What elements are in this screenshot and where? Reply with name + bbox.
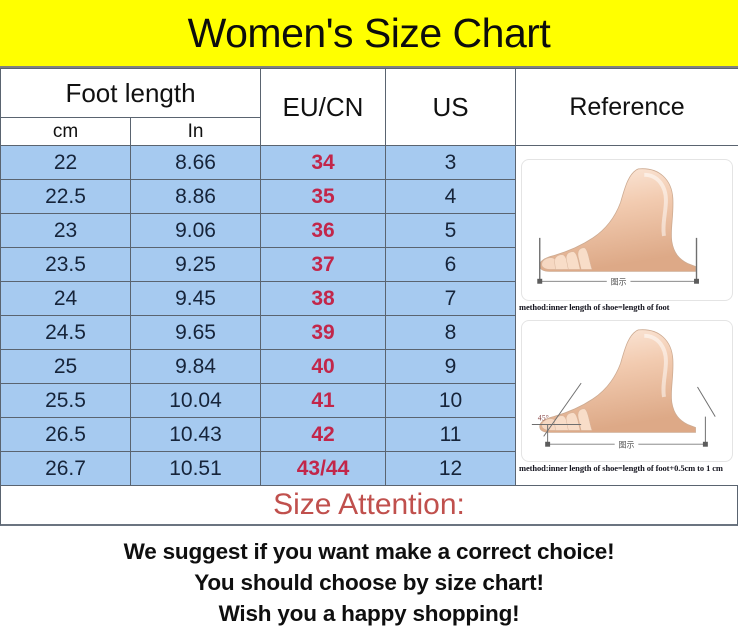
cell-us: 9: [386, 350, 516, 384]
dimension-label: 图示: [619, 440, 635, 449]
cell-eu: 37: [261, 248, 386, 282]
cell-us: 5: [386, 214, 516, 248]
cell-in: 8.86: [131, 180, 261, 214]
chart-title-bar: Women's Size Chart: [0, 0, 738, 68]
cell-us: 3: [386, 146, 516, 180]
cell-cm: 24.5: [1, 316, 131, 350]
cell-us: 6: [386, 248, 516, 282]
cell-in: 9.45: [131, 282, 261, 316]
cell-eu: 35: [261, 180, 386, 214]
reference-cell: 图示 method:inner length of shoe=length of…: [516, 146, 738, 486]
cell-eu: 41: [261, 384, 386, 418]
page-title: Women's Size Chart: [188, 13, 551, 54]
cell-us: 7: [386, 282, 516, 316]
table-header: Foot length EU/CN US Reference cm In: [1, 69, 738, 146]
size-attention-row: Size Attention:: [0, 486, 738, 526]
cell-cm: 23.5: [1, 248, 131, 282]
cell-eu: 42: [261, 418, 386, 452]
angle-label: 45°: [538, 413, 549, 422]
reference-figure-2: 45° 图示 method:inner length of shoe=lengt…: [516, 316, 738, 476]
footer-notes: We suggest if you want make a correct ch…: [0, 526, 738, 629]
cell-in: 10.43: [131, 418, 261, 452]
cell-in: 10.04: [131, 384, 261, 418]
cell-in: 9.84: [131, 350, 261, 384]
cell-cm: 24: [1, 282, 131, 316]
dimension-label: 图示: [611, 278, 627, 287]
column-header-cm: cm: [1, 118, 131, 146]
header-row-primary: Foot length EU/CN US Reference: [1, 69, 738, 118]
size-attention-heading: Size Attention:: [273, 490, 465, 520]
cell-cm: 25: [1, 350, 131, 384]
size-chart-sheet: Women's Size Chart Foot length EU/CN US …: [0, 0, 738, 644]
cell-us: 4: [386, 180, 516, 214]
foot-angle-view-illustration: 45° 图示: [521, 320, 733, 462]
cell-eu: 34: [261, 146, 386, 180]
cell-us: 8: [386, 316, 516, 350]
cell-eu: 38: [261, 282, 386, 316]
table-row: 22 8.66 34 3: [1, 146, 738, 180]
size-chart-table: Foot length EU/CN US Reference cm In 22 …: [0, 68, 738, 486]
cell-eu: 36: [261, 214, 386, 248]
cell-us: 11: [386, 418, 516, 452]
note-line: We suggest if you want make a correct ch…: [0, 536, 738, 567]
column-header-reference: Reference: [516, 69, 738, 146]
cell-us: 12: [386, 452, 516, 486]
note-line: You should choose by size chart!: [0, 567, 738, 598]
cell-cm: 26.7: [1, 452, 131, 486]
cell-eu: 39: [261, 316, 386, 350]
reference-figure-stack: 图示 method:inner length of shoe=length of…: [516, 155, 738, 475]
column-header-us: US: [386, 69, 516, 146]
foot-diagram-plain-icon: 图示: [522, 160, 732, 300]
cell-in: 9.06: [131, 214, 261, 248]
cell-eu: 43/44: [261, 452, 386, 486]
cell-cm: 25.5: [1, 384, 131, 418]
reference-caption-1: method:inner length of shoe=length of fo…: [516, 301, 738, 315]
cell-cm: 23: [1, 214, 131, 248]
cell-cm: 22.5: [1, 180, 131, 214]
column-header-in: In: [131, 118, 261, 146]
cell-in: 9.25: [131, 248, 261, 282]
cell-cm: 26.5: [1, 418, 131, 452]
foot-side-view-illustration: 图示: [521, 159, 733, 301]
reference-caption-2: method:inner length of shoe=length of fo…: [516, 462, 738, 476]
column-header-eu-cn: EU/CN: [261, 69, 386, 146]
reference-figure-1: 图示 method:inner length of shoe=length of…: [516, 155, 738, 315]
table-body: 22 8.66 34 3: [1, 146, 738, 486]
column-header-foot-length: Foot length: [1, 69, 261, 118]
cell-eu: 40: [261, 350, 386, 384]
cell-in: 9.65: [131, 316, 261, 350]
cell-in: 10.51: [131, 452, 261, 486]
foot-diagram-angle-icon: 45° 图示: [522, 321, 732, 461]
cell-in: 8.66: [131, 146, 261, 180]
note-line: Wish you a happy shopping!: [0, 598, 738, 629]
cell-us: 10: [386, 384, 516, 418]
cell-cm: 22: [1, 146, 131, 180]
